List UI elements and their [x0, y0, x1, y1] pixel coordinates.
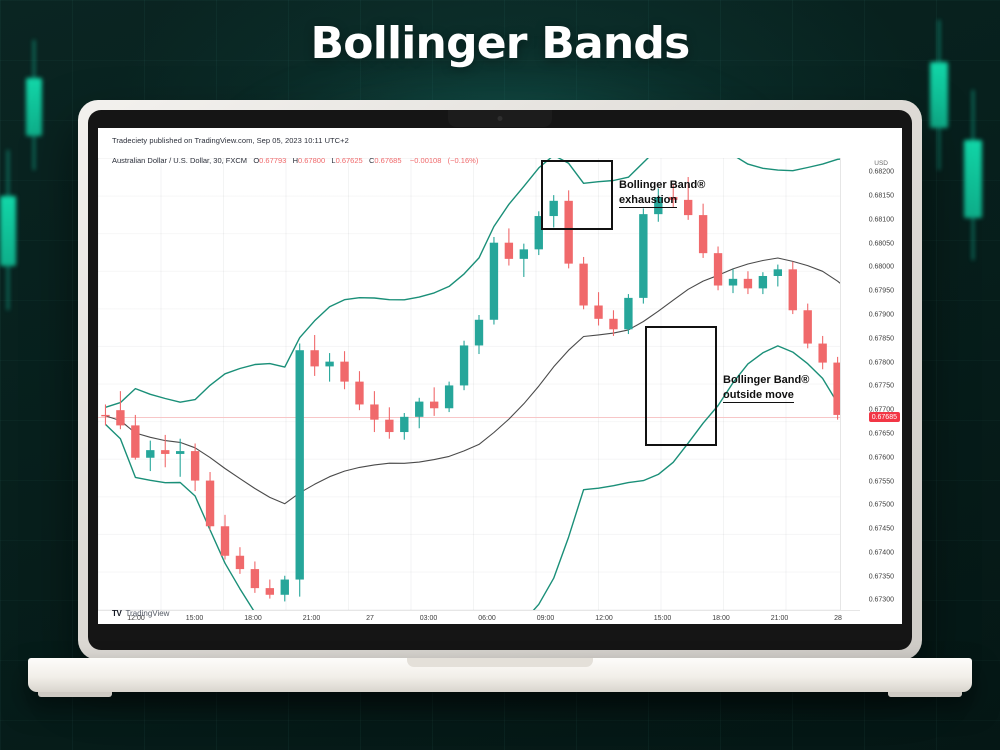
price-axis-label: 0.67550	[869, 478, 894, 485]
laptop-base	[28, 658, 972, 692]
price-axis-label: 0.67900	[869, 312, 894, 319]
annotation-text-outside-move: Bollinger Band® outside move	[723, 373, 809, 403]
candle-body-bearish	[714, 253, 722, 285]
candle-body-bearish	[191, 451, 199, 480]
time-axis-label: 03:00	[420, 615, 438, 622]
candle-body-bullish	[400, 417, 408, 432]
laptop-mockup: Tradeciety published on TradingView.com,…	[0, 0, 1000, 750]
time-axis-label: 18:00	[712, 615, 730, 622]
time-axis-label: 06:00	[478, 615, 496, 622]
time-axis-label: 15:00	[186, 615, 204, 622]
price-axis-label: 0.67650	[869, 430, 894, 437]
candle-body-bearish	[266, 588, 274, 595]
candle-body-bearish	[116, 410, 124, 425]
candle-body-bullish	[460, 345, 468, 385]
candle-body-bearish	[131, 425, 139, 457]
candle-body-bearish	[804, 310, 812, 343]
price-axis-label: 0.67750	[869, 383, 894, 390]
candle-body-bullish	[475, 320, 483, 346]
candle-body-bearish	[430, 402, 438, 409]
price-axis-label: 0.67400	[869, 549, 894, 556]
annotation-exhaustion-line1: Bollinger Band®	[619, 179, 705, 191]
candle-body-bearish	[221, 526, 229, 555]
candle-body-bearish	[385, 420, 393, 432]
candle-body-bearish	[744, 279, 752, 289]
price-axis-label: 0.68200	[869, 169, 894, 176]
price-axis-label: 0.68050	[869, 240, 894, 247]
candle-body-bullish	[520, 249, 528, 259]
candle-body-bearish	[505, 243, 513, 259]
candle-body-bullish	[774, 269, 782, 276]
annotation-outside-line2: outside move	[723, 388, 794, 404]
laptop-lid: Tradeciety published on TradingView.com,…	[78, 100, 922, 660]
candle-body-bearish	[594, 305, 602, 318]
candle-body-bullish	[759, 276, 767, 288]
time-axis-label: 21:00	[771, 615, 789, 622]
candle-body-bearish	[161, 450, 169, 454]
ohlc-close-value: 0.67685	[374, 156, 401, 165]
candle-body-bearish	[818, 344, 826, 363]
candle-body-bearish	[609, 319, 617, 329]
page-title: Bollinger Bands	[0, 18, 1000, 69]
price-axis-label: 0.67300	[869, 597, 894, 604]
candle-body-bullish	[490, 243, 498, 320]
price-axis-label: 0.67850	[869, 335, 894, 342]
candle-body-bullish	[729, 279, 737, 286]
annotation-outside-line1: Bollinger Band®	[723, 374, 809, 386]
annotation-box-outside-move	[645, 326, 717, 446]
tradingview-name: TradingView	[125, 609, 169, 618]
candle-body-bearish	[251, 569, 259, 588]
candle-body-bullish	[415, 402, 423, 417]
time-axis-label: 21:00	[303, 615, 321, 622]
symbol-label[interactable]: Australian Dollar / U.S. Dollar, 30, FXC…	[112, 156, 247, 165]
current-price-badge: 0.67685	[869, 412, 900, 422]
candle-body-bearish	[699, 215, 707, 253]
chart-header: Tradeciety published on TradingView.com,…	[112, 136, 478, 165]
candle-body-bearish	[310, 350, 318, 366]
screen: Tradeciety published on TradingView.com,…	[98, 128, 902, 624]
time-axis-label: 28	[834, 615, 842, 622]
tradingview-mark-icon: TV	[112, 609, 121, 618]
candle-body-bearish	[370, 404, 378, 419]
time-axis-label: 09:00	[537, 615, 555, 622]
time-axis-label: 12:00	[595, 615, 613, 622]
candle-body-bullish	[639, 214, 647, 298]
price-axis[interactable]: USD 0.682000.681500.681000.680500.680000…	[840, 158, 902, 610]
candle-body-bullish	[296, 350, 304, 579]
candle-body-bearish	[101, 415, 109, 416]
chart-attribution: Tradeciety published on TradingView.com,…	[112, 136, 478, 145]
price-axis-label: 0.67800	[869, 359, 894, 366]
price-axis-label: 0.68150	[869, 193, 894, 200]
price-axis-label: 0.67600	[869, 454, 894, 461]
price-axis-label: 0.67950	[869, 288, 894, 295]
time-axis-label: 15:00	[654, 615, 672, 622]
chart-symbol-line: Australian Dollar / U.S. Dollar, 30, FXC…	[112, 156, 478, 165]
ohlc-change: −0.00108	[410, 156, 442, 165]
ohlc-low-value: 0.67625	[336, 156, 363, 165]
time-axis[interactable]: 12:0015:0018:0021:002703:0006:0009:0012:…	[98, 610, 860, 624]
tradingview-logo[interactable]: TV TradingView	[112, 609, 169, 618]
laptop-bezel: Tradeciety published on TradingView.com,…	[88, 110, 912, 650]
price-axis-label: 0.68100	[869, 216, 894, 223]
ohlc-change-percent: (−0.16%)	[448, 156, 479, 165]
time-axis-label: 18:00	[244, 615, 262, 622]
annotation-box-exhaustion	[541, 160, 613, 230]
price-axis-label: 0.67500	[869, 502, 894, 509]
laptop-foot-left	[38, 692, 112, 697]
laptop-foot-right	[888, 692, 962, 697]
candle-body-bearish	[236, 556, 244, 569]
annotation-text-exhaustion: Bollinger Band® exhaustion	[619, 178, 705, 208]
webcam-notch	[448, 110, 552, 127]
candle-body-bullish	[176, 451, 184, 454]
candle-body-bearish	[206, 481, 214, 527]
price-axis-label: 0.67350	[869, 573, 894, 580]
candle-body-bullish	[146, 450, 154, 458]
price-axis-label: 0.67450	[869, 526, 894, 533]
time-axis-label: 27	[366, 615, 374, 622]
candle-body-bullish	[445, 385, 453, 408]
laptop-base-notch	[407, 658, 593, 667]
candle-body-bullish	[624, 298, 632, 329]
ohlc-high-value: 0.67800	[298, 156, 325, 165]
candle-body-bearish	[789, 269, 797, 310]
ohlc-open-value: 0.67793	[259, 156, 286, 165]
candle-body-bearish	[340, 362, 348, 382]
candle-body-bearish	[579, 264, 587, 306]
annotation-exhaustion-line2: exhaustion	[619, 193, 677, 209]
candle-body-bullish	[281, 580, 289, 595]
candle-body-bearish	[355, 382, 363, 405]
price-axis-unit: USD	[874, 160, 888, 167]
price-axis-label: 0.68000	[869, 264, 894, 271]
bollinger-upper-band	[106, 158, 853, 407]
candle-body-bullish	[325, 362, 333, 367]
